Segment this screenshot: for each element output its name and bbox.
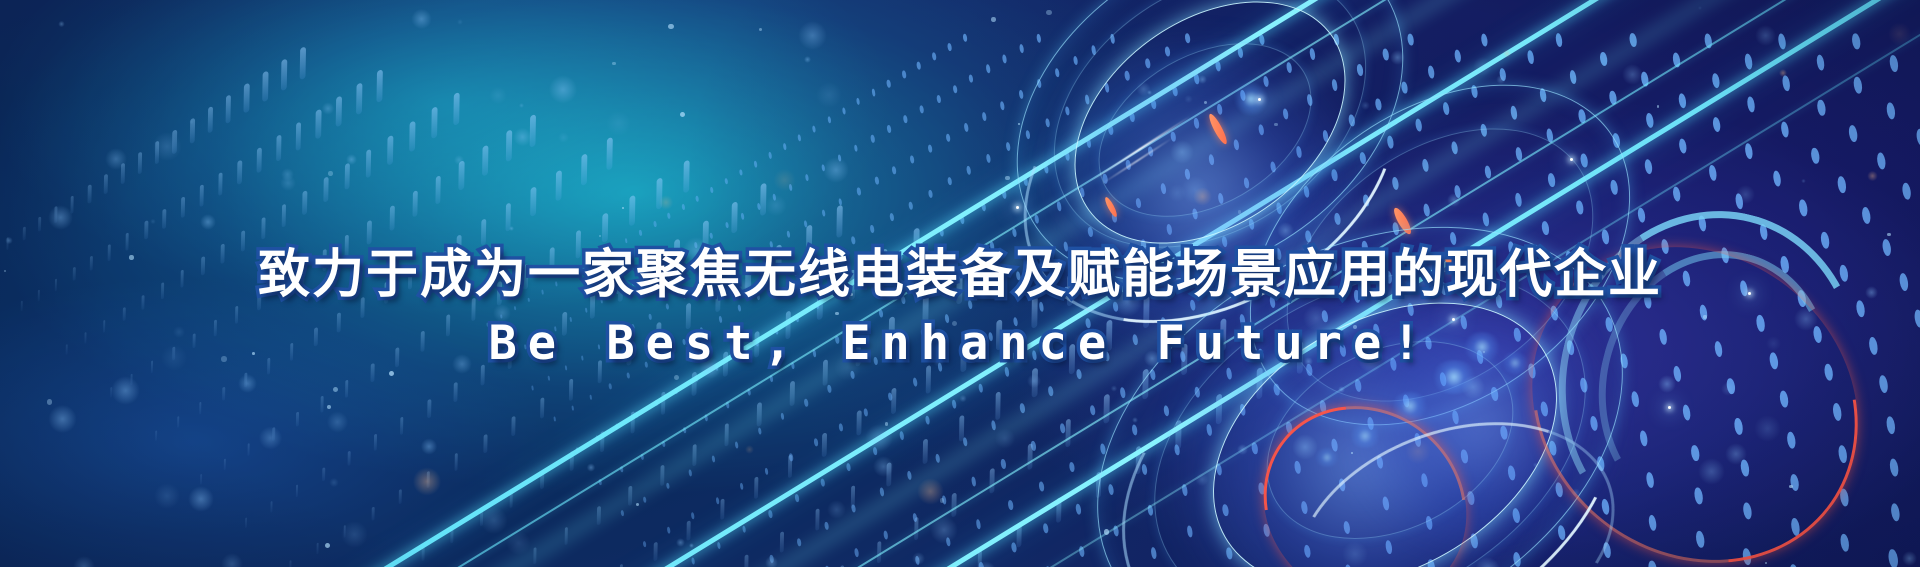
hero-copy: 致力于成为一家聚焦无线电装备及赋能场景应用的现代企业 Be Best, Enha… <box>0 246 1920 370</box>
page-subtitle: Be Best, Enhance Future! <box>0 318 1920 370</box>
page-title: 致力于成为一家聚焦无线电装备及赋能场景应用的现代企业 <box>0 246 1920 304</box>
hero-banner: 致力于成为一家聚焦无线电装备及赋能场景应用的现代企业 Be Best, Enha… <box>0 0 1920 567</box>
